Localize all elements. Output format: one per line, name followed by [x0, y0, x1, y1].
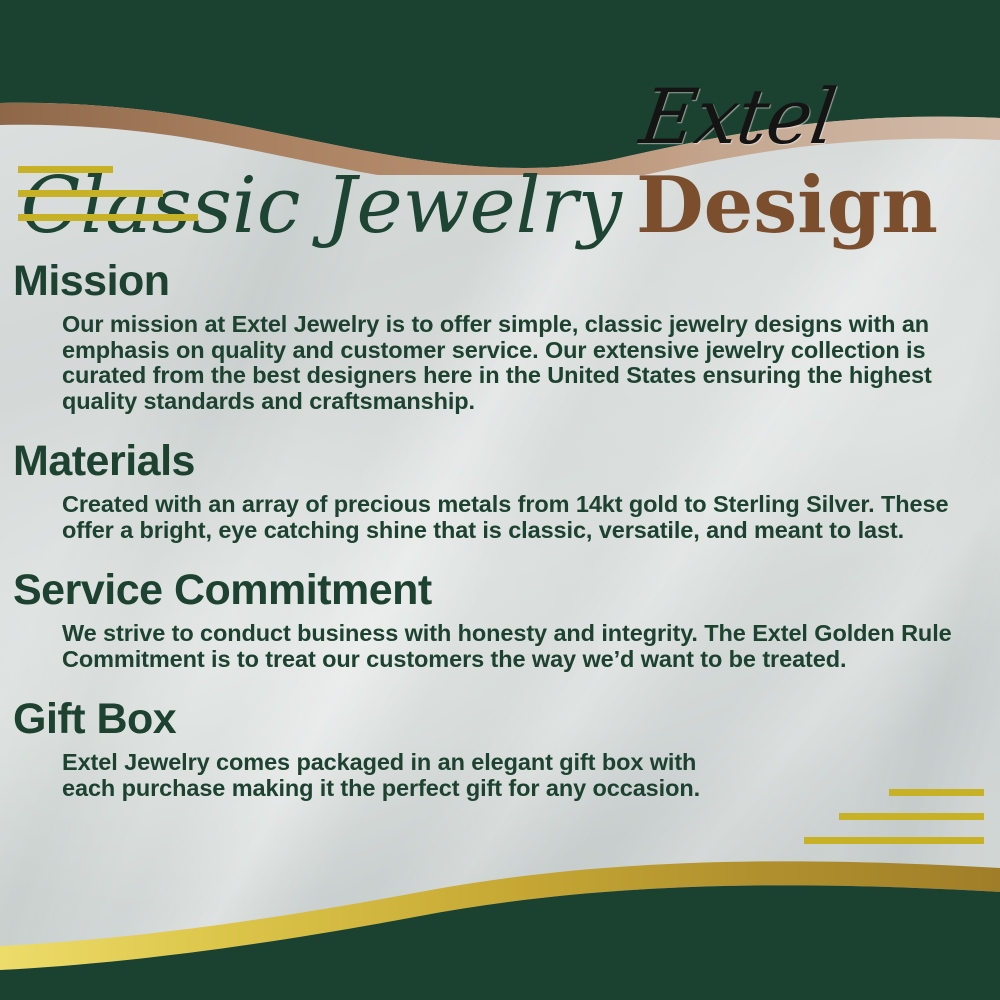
section-heading-materials: Materials: [13, 432, 1000, 490]
section-body-text: Our mission at Extel Jewelry is to offer…: [62, 312, 966, 414]
section-body-materials: Created with an array of precious metals…: [62, 492, 966, 543]
section-materials: Materials Created with an array of preci…: [0, 432, 1000, 543]
rule-bar: [18, 190, 163, 197]
section-mission: Mission Our mission at Extel Jewelry is …: [0, 252, 1000, 414]
section-body-text: We strive to conduct business with hones…: [62, 621, 966, 672]
poster-canvas: Extel Classic JewelryDesign Mission Our …: [0, 0, 1000, 1000]
section-heading-service-commitment: Service Commitment: [13, 561, 1000, 619]
rule-bar: [804, 837, 984, 844]
rule-bar: [18, 214, 198, 221]
section-heading-gift-box: Gift Box: [13, 690, 1000, 748]
rule-bar: [839, 813, 984, 820]
brand-logo-extel: Extel: [602, 72, 875, 162]
decorative-rules-top-left: [18, 166, 198, 238]
section-body-text: Created with an array of precious metals…: [62, 492, 966, 543]
section-body-text: Extel Jewelry comes packaged in an elega…: [62, 750, 750, 801]
page-title-accent: Design: [636, 160, 938, 251]
section-body-service-commitment: We strive to conduct business with hones…: [62, 621, 966, 672]
rule-bar: [18, 166, 113, 173]
section-heading-mission: Mission: [13, 252, 1000, 310]
bottom-wave-decoration: [0, 840, 1000, 1000]
section-service-commitment: Service Commitment We strive to conduct …: [0, 561, 1000, 672]
section-gift-box: Gift Box Extel Jewelry comes packaged in…: [0, 690, 1000, 801]
section-body-mission: Our mission at Extel Jewelry is to offer…: [62, 312, 966, 414]
section-body-gift-box: Extel Jewelry comes packaged in an elega…: [62, 750, 750, 801]
content-sections: Mission Our mission at Extel Jewelry is …: [0, 252, 1000, 803]
